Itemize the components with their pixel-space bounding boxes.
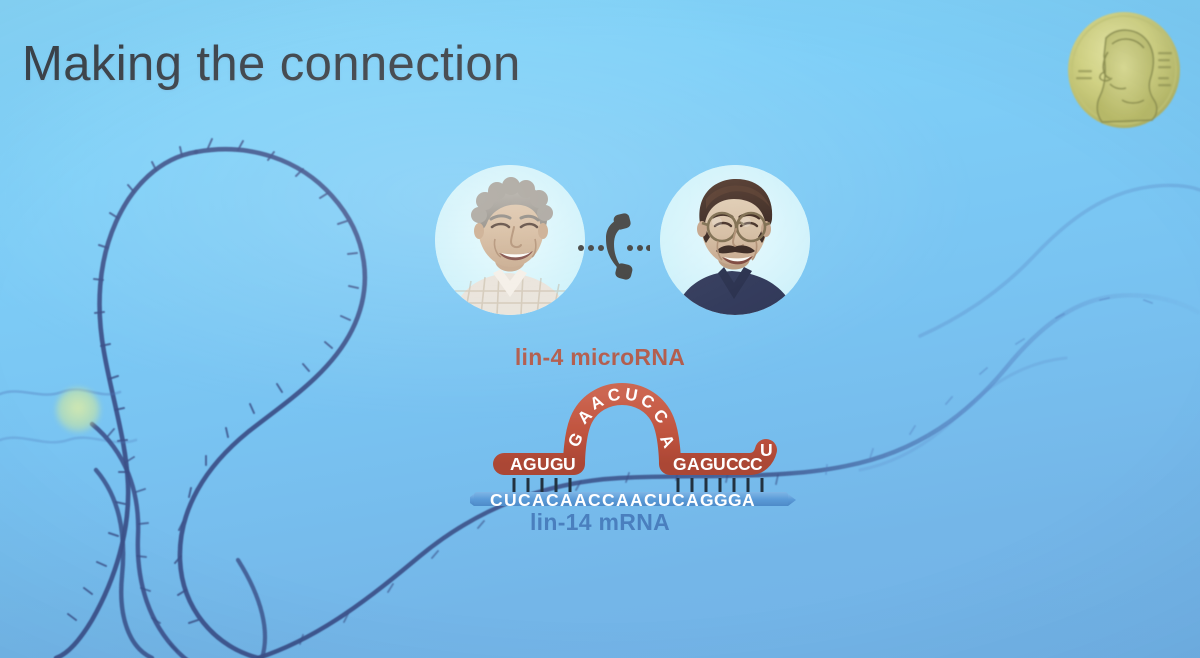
mirna-right-sequence: G: [673, 454, 687, 474]
svg-text:A: A: [616, 490, 629, 506]
svg-text:A: A: [687, 454, 700, 474]
svg-text:U: U: [658, 490, 671, 506]
mrna-sequence: C U C A C A A C C A A C U C A G G G A: [490, 490, 755, 506]
left-portrait: [435, 165, 585, 315]
projector-lens-flare: [56, 388, 100, 432]
svg-text:G: G: [523, 454, 537, 474]
telephone-handset-icon: [578, 212, 650, 280]
svg-text:C: C: [490, 490, 503, 506]
mirna-label: lin-4 microRNA: [0, 344, 1200, 371]
svg-text:C: C: [546, 490, 559, 506]
svg-text:A: A: [532, 490, 545, 506]
mrna-label: lin-14 mRNA: [0, 509, 1200, 536]
svg-text:G: G: [700, 490, 714, 506]
svg-text:A: A: [686, 490, 699, 506]
svg-text:U: U: [537, 454, 550, 474]
svg-text:C: C: [588, 490, 601, 506]
svg-text:G: G: [714, 490, 728, 506]
svg-text:C: C: [518, 490, 531, 506]
svg-text:C: C: [644, 490, 657, 506]
svg-text:A: A: [560, 490, 573, 506]
right-portrait: [660, 165, 810, 315]
svg-text:A: A: [630, 490, 643, 506]
svg-text:U: U: [504, 490, 517, 506]
slide-canvas: Making the connection: [0, 0, 1200, 658]
rna-duplex-diagram: A G U G U G A A C U C C A G A G U C C C …: [470, 378, 800, 506]
nobel-medal-icon: [1062, 8, 1186, 136]
svg-text:U: U: [713, 454, 726, 474]
svg-text:G: G: [728, 490, 742, 506]
svg-text:C: C: [602, 490, 615, 506]
mirna-terminal-base: U: [760, 440, 773, 460]
svg-text:U: U: [563, 454, 576, 474]
svg-text:A: A: [574, 490, 587, 506]
svg-text:A: A: [742, 490, 755, 506]
background-rna-strands: [0, 0, 1200, 658]
svg-text:C: C: [672, 490, 685, 506]
mirna-left-sequence: A: [510, 454, 523, 474]
page-title: Making the connection: [22, 36, 521, 92]
